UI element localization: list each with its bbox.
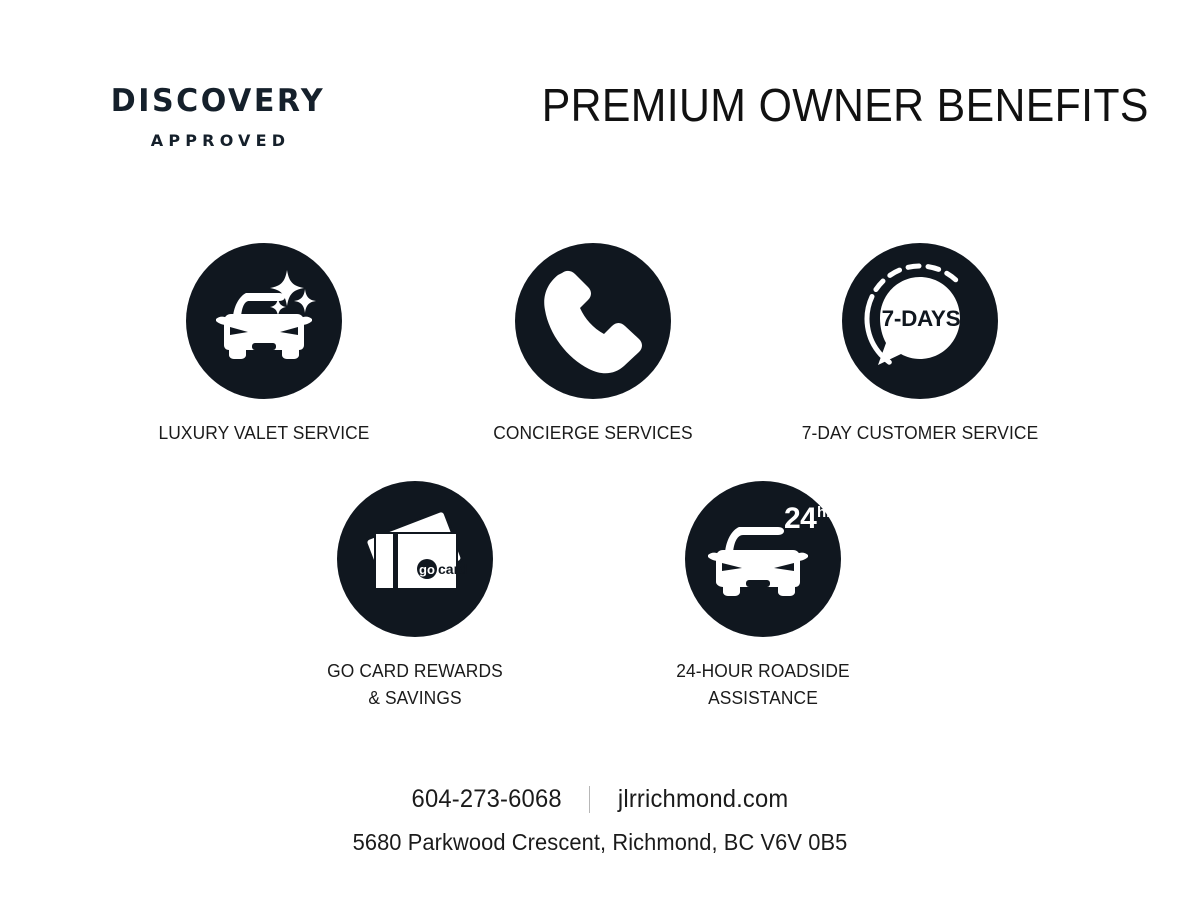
benefit-icon-circle: go card [337, 481, 493, 637]
twentyfour-label: 24 [784, 502, 817, 535]
seven-days-label: 7-DAYS [882, 306, 961, 331]
gocard-go-label: go [419, 562, 435, 577]
footer-contact-row: 604-273-6068 jlrrichmond.com [0, 786, 1200, 813]
benefit-item-concierge: CONCIERGE SERVICES [463, 243, 723, 447]
benefit-icon-circle [186, 243, 342, 399]
benefit-item-gocard: go card GO CARD REWARDS & SAVINGS [285, 481, 545, 712]
speech-bubble-7days-icon: 7-DAYS [842, 243, 998, 399]
hr-label: hr [817, 504, 832, 521]
gocard-card-label: card [438, 561, 468, 577]
discovery-approved-logo: DISCOVERY APPROVED [88, 86, 348, 149]
footer-phone[interactable]: 604-273-6068 [411, 787, 584, 812]
phone-handset-icon [515, 243, 671, 399]
benefit-item-seven-day: 7-DAYS 7-DAY CUSTOMER SERVICE [790, 243, 1050, 447]
benefit-caption: LUXURY VALET SERVICE [142, 420, 386, 447]
benefit-item-roadside: 24 hr 24-HOUR ROADSIDE ASSISTANCE [633, 481, 893, 712]
benefit-caption: GO CARD REWARDS & SAVINGS [293, 658, 537, 712]
header: DISCOVERY APPROVED PREMIUM OWNER BENEFIT… [0, 78, 1200, 168]
benefit-icon-circle: 24 hr [685, 481, 841, 637]
benefit-item-valet: LUXURY VALET SERVICE [134, 243, 394, 447]
brand-wordmark: DISCOVERY [92, 86, 344, 117]
poster-root: DISCOVERY APPROVED PREMIUM OWNER BENEFIT… [0, 0, 1200, 900]
footer: 604-273-6068 jlrrichmond.com 5680 Parkwo… [0, 786, 1200, 854]
benefit-icon-circle [515, 243, 671, 399]
benefit-caption: 24-HOUR ROADSIDE ASSISTANCE [641, 658, 885, 712]
car-24hr-icon: 24 hr [685, 481, 841, 637]
footer-divider [589, 786, 590, 813]
benefit-caption: CONCIERGE SERVICES [471, 420, 715, 447]
car-sparkle-icon [186, 243, 342, 399]
gocard-cards-icon: go card [337, 481, 493, 637]
footer-address: 5680 Parkwood Crescent, Richmond, BC V6V… [30, 831, 1170, 854]
brand-tagline: APPROVED [88, 133, 348, 149]
page-title: PREMIUM OWNER BENEFITS [542, 78, 1119, 132]
footer-website[interactable]: jlrrichmond.com [595, 787, 788, 812]
benefit-caption: 7-DAY CUSTOMER SERVICE [798, 420, 1042, 447]
benefit-icon-circle: 7-DAYS [842, 243, 998, 399]
